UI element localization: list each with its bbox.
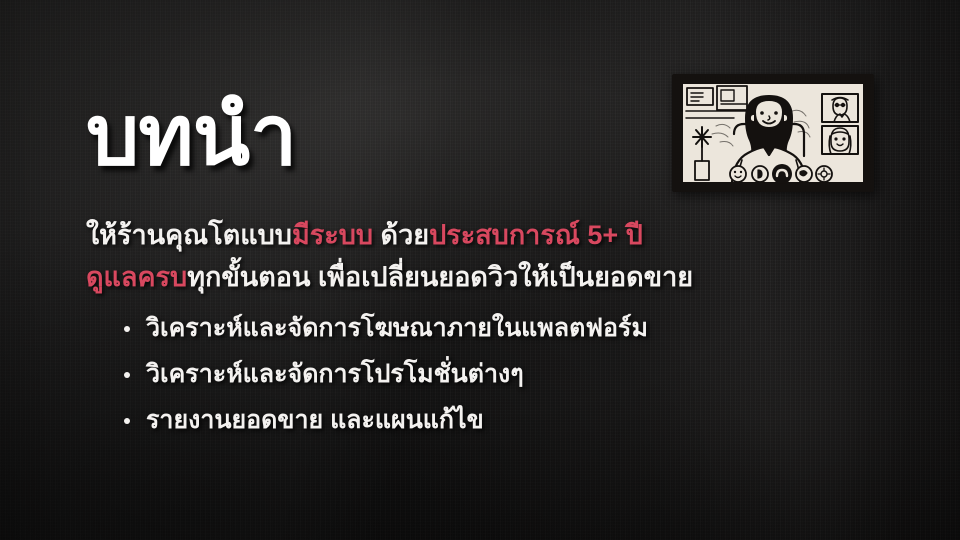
subtitle-seg-4-highlight: ประสบการณ์ 5+ ปี — [429, 220, 643, 250]
subtitle-seg-2-highlight: มีระบบ — [292, 220, 373, 250]
bullet-label: วิเคราะห์และจัดการโปรโมชั่นต่างๆ — [146, 360, 524, 388]
subtitle-seg-3: ด้วย — [373, 220, 429, 250]
camera-icon — [796, 166, 812, 182]
microphone-icon — [752, 166, 768, 182]
subtitle-seg-1: ให้ร้านคุณโตแบบ — [86, 220, 292, 250]
list-item: วิเคราะห์และจัดการโปรโมชั่นต่างๆ — [124, 351, 648, 397]
settings-icon — [816, 166, 832, 182]
subtitle-seg-6: ทุกขั้นตอน เพื่อเปลี่ยนยอดวิวให้เป็นยอดข… — [187, 262, 693, 292]
subtitle-line-2: ดูแลครบทุกขั้นตอน เพื่อเปลี่ยนยอดวิวให้เ… — [86, 256, 686, 298]
emoji-reaction-icon — [730, 166, 746, 182]
bullet-label: รายงานยอดขาย และแผนแก้ไข — [146, 406, 484, 434]
video-call-illustration — [672, 74, 874, 192]
subtitle-block: ให้ร้านคุณโตแบบมีระบบ ด้วยประสบการณ์ 5+ … — [86, 214, 686, 298]
participant-thumbnail-woman — [822, 126, 858, 154]
bullet-dot-icon — [124, 418, 130, 424]
bullet-dot-icon — [124, 326, 130, 332]
woman-eye-right — [774, 111, 778, 115]
bullet-dot-icon — [124, 372, 130, 378]
participant-thumbnail-man — [822, 94, 858, 122]
bullet-label: วิเคราะห์และจัดการโฆษณาภายในแพลตฟอร์ม — [146, 314, 648, 342]
woman-eye-left — [760, 111, 764, 115]
end-call-button — [772, 164, 792, 184]
subtitle-line-1: ให้ร้านคุณโตแบบมีระบบ ด้วยประสบการณ์ 5+ … — [86, 214, 686, 256]
list-item: วิเคราะห์และจัดการโฆษณาภายในแพลตฟอร์ม — [124, 305, 648, 351]
page-title: บทนำ — [86, 93, 296, 177]
subtitle-seg-5-highlight: ดูแลครบ — [86, 262, 187, 292]
slide-root: บทนำ ให้ร้านคุณโตแบบมีระบบ ด้วยประสบการณ… — [0, 0, 960, 540]
slide-content: บทนำ ให้ร้านคุณโตแบบมีระบบ ด้วยประสบการณ… — [0, 0, 960, 540]
list-item: รายงานยอดขาย และแผนแก้ไข — [124, 397, 648, 443]
bullet-list: วิเคราะห์และจัดการโฆษณาภายในแพลตฟอร์ม วิ… — [124, 305, 648, 443]
